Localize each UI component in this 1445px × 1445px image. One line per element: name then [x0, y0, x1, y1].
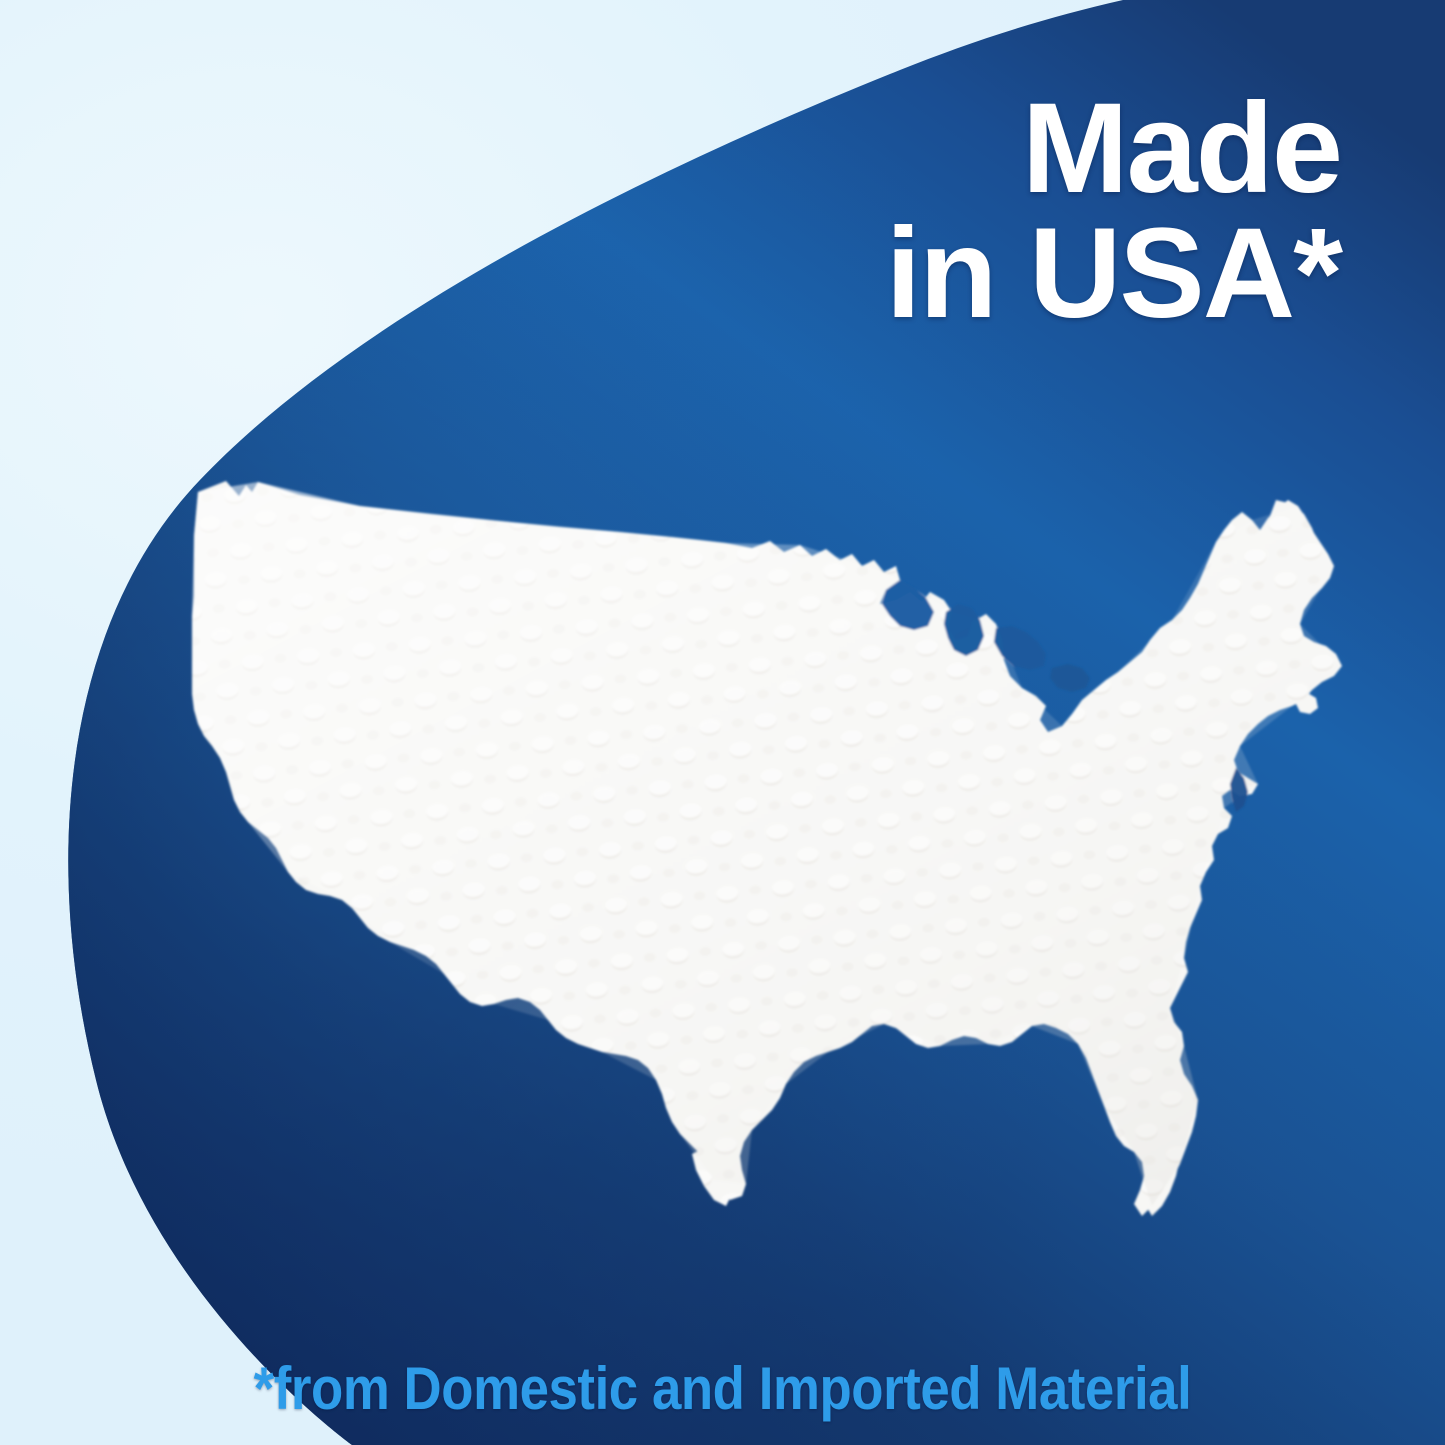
headline-line-2: in USA* [886, 211, 1341, 336]
made-in-usa-graphic: Made in USA* *from Domestic and Imported… [0, 0, 1445, 1445]
footnote-text: *from Domestic and Imported Material [87, 1354, 1359, 1423]
headline-line-1: Made [886, 86, 1341, 211]
headline: Made in USA* [886, 86, 1341, 337]
